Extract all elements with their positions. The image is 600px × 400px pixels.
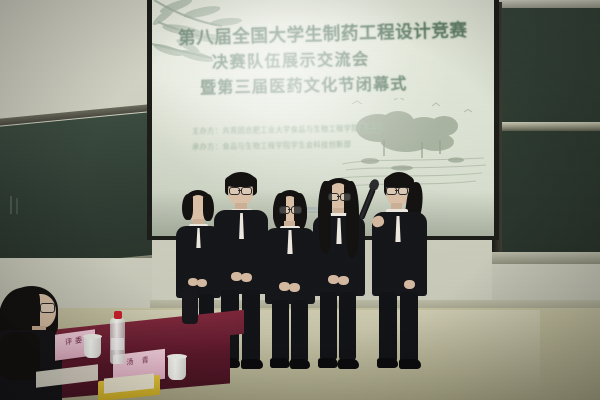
eyeglasses-icon <box>291 206 302 214</box>
right-blackboard-middle-rail <box>498 122 600 131</box>
eyeglasses-icon <box>241 187 252 195</box>
paper-cup <box>84 336 101 358</box>
eyeglasses-icon <box>340 193 351 201</box>
bottle-label <box>111 338 124 350</box>
eyeglasses-icon <box>386 187 397 195</box>
paper-cup <box>168 356 186 380</box>
eyeglasses-icon <box>279 206 290 214</box>
eyeglasses-icon <box>328 193 339 201</box>
eyeglasses-icon <box>398 187 408 195</box>
right-blackboard <box>498 8 600 256</box>
eyeglasses-icon <box>229 187 240 195</box>
paper-cup-rim <box>167 354 187 359</box>
chalk-mark <box>16 198 18 214</box>
chalk-mark <box>10 196 12 214</box>
background-person-leg <box>182 286 198 324</box>
left-blackboard <box>0 112 152 272</box>
bottle-cap <box>114 311 122 319</box>
photo-scene: 第八届全国大学生制药工程设计竞赛 决赛队伍展示交流会 暨第三届医药文化节闭幕式 … <box>0 0 600 400</box>
eyeglasses-icon <box>40 303 55 313</box>
paper-cup-rim <box>83 334 102 339</box>
presenter-5 <box>370 172 430 368</box>
